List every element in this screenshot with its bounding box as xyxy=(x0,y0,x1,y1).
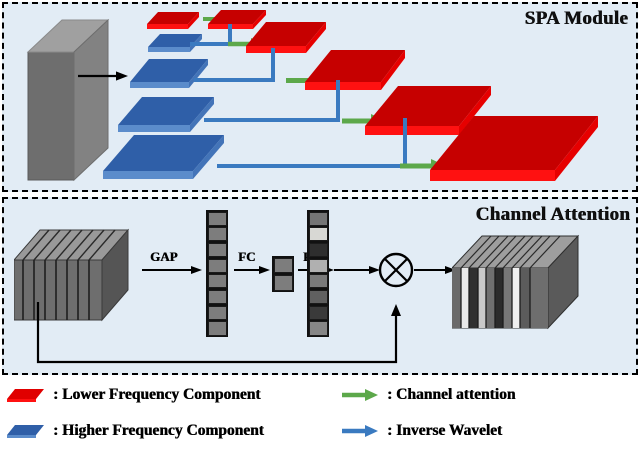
gap-label: GAP xyxy=(150,249,177,265)
gap-vector-cell-1 xyxy=(208,212,227,226)
gap-arrow xyxy=(142,264,202,276)
fc1-arrow xyxy=(234,264,270,276)
fc1-label: FC xyxy=(238,249,255,265)
gap-vector-cell-4 xyxy=(208,259,227,273)
attention-weight-vector-cell-2 xyxy=(309,227,328,241)
legend-label-higher-frequency: : Higher Frequency Component xyxy=(53,422,264,440)
figure-canvas: SPA Module xyxy=(0,0,640,453)
legend-item-lower-frequency: : Lower Frequency Component xyxy=(6,386,260,404)
blue-arrow-icon xyxy=(340,423,380,439)
attention-weight-vector-cell-5 xyxy=(309,274,328,288)
red-parallelogram-icon xyxy=(6,387,46,403)
gap-vector-cell-3 xyxy=(208,243,227,257)
fc-bottleneck-vector xyxy=(272,256,294,292)
channel-attention-title: Channel Attention xyxy=(476,204,630,226)
attention-weight-vector-cell-4 xyxy=(309,259,328,273)
higher-frequency-plate-4 xyxy=(103,133,229,185)
legend-label-channel-attention: : Channel attention xyxy=(387,386,515,404)
blue-parallelogram-icon xyxy=(6,423,46,439)
attention-weight-vector-cell-1 xyxy=(309,212,328,226)
input-arrow xyxy=(78,68,128,84)
green-arrow-icon xyxy=(340,387,380,403)
attention-to-multiply-arrow xyxy=(334,264,380,276)
multiply-to-output-arrow xyxy=(414,264,456,276)
fc-bottleneck-vector-cell-1 xyxy=(274,258,293,274)
inverse-wavelet-wire-4 xyxy=(213,116,413,172)
multiply-operator xyxy=(378,252,414,288)
spa-module-title: SPA Module xyxy=(525,8,628,30)
attention-weight-vector-cell-3 xyxy=(309,243,328,257)
skip-connection-wire xyxy=(36,300,408,368)
legend-item-higher-frequency: : Higher Frequency Component xyxy=(6,422,264,440)
output-feature-stack xyxy=(452,224,582,336)
gap-vector-cell-5 xyxy=(208,274,227,288)
legend-item-inverse-wavelet: : Inverse Wavelet xyxy=(340,422,502,440)
legend-item-channel-attention: : Channel attention xyxy=(340,386,515,404)
legend-label-lower-frequency: : Lower Frequency Component xyxy=(53,386,260,404)
lower-frequency-plate-6 xyxy=(430,114,605,190)
legend-label-inverse-wavelet: : Inverse Wavelet xyxy=(387,422,502,440)
gap-vector-cell-2 xyxy=(208,227,227,241)
legend: : Lower Frequency Component : Higher Fre… xyxy=(0,378,640,453)
fc-bottleneck-vector-cell-2 xyxy=(274,275,293,291)
